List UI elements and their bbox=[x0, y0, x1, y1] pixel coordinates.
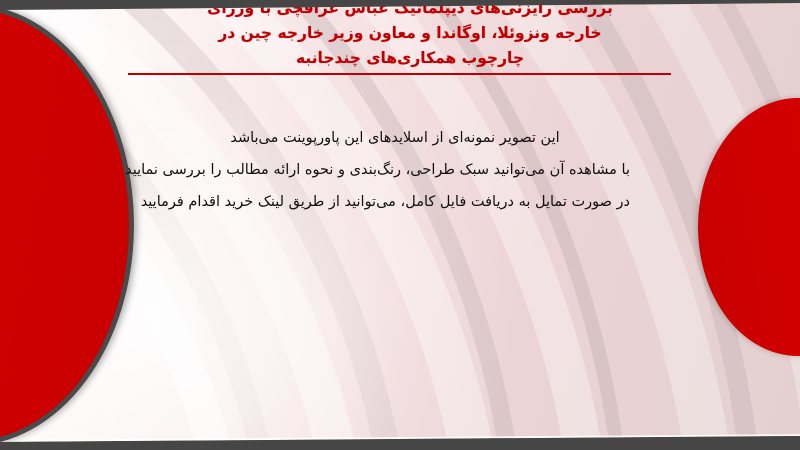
body-line-2: با مشاهده آن می‌توانید سبک طراحی، رنگ‌بن… bbox=[160, 154, 630, 186]
title-line-3: چارچوب همکاری‌های چندجانبه bbox=[110, 46, 710, 71]
title-line-2: خارجه ونزوئلا، اوگاندا و معاون وزیر خارج… bbox=[110, 21, 710, 46]
slide-body-text: این تصویر نمونه‌ای از اسلایدهای این پاور… bbox=[160, 122, 630, 218]
body-line-3: در صورت تمایل به دریافت فایل کامل، می‌تو… bbox=[160, 186, 630, 218]
slide-title: بررسی رایزنی‌های دیپلماتیک عباس عراقچی ب… bbox=[110, 0, 710, 71]
slide-canvas: بررسی رایزنی‌های دیپلماتیک عباس عراقچی ب… bbox=[0, 0, 800, 450]
body-line-1: این تصویر نمونه‌ای از اسلایدهای این پاور… bbox=[160, 122, 630, 154]
title-divider-rule bbox=[128, 73, 671, 75]
